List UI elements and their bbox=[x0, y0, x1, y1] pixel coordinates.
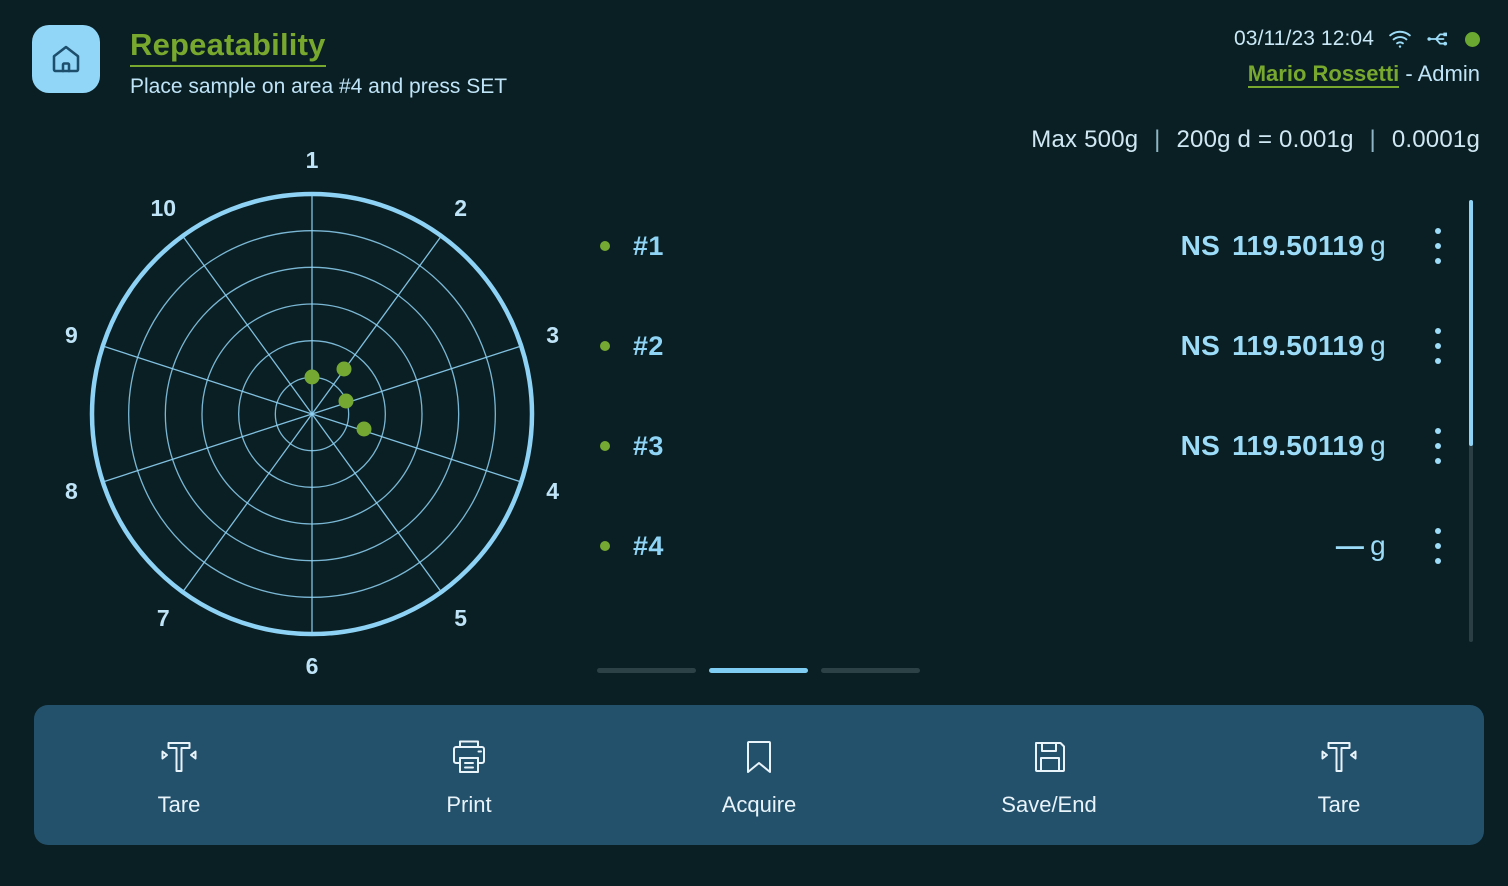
measurement-number: 119.50119 bbox=[1232, 230, 1364, 261]
toolbar-button-print[interactable]: Print bbox=[324, 705, 614, 845]
kebab-dot bbox=[1435, 443, 1441, 449]
header-bar: Repeatability Place sample on area #4 an… bbox=[0, 0, 1508, 118]
measurement-number: — bbox=[1336, 530, 1364, 561]
status-row: 03/11/23 12:04 bbox=[1234, 24, 1480, 54]
tare-icon bbox=[154, 734, 204, 780]
kebab-dot bbox=[1435, 343, 1441, 349]
measurement-unit: g bbox=[1370, 230, 1386, 261]
measurement-row[interactable]: #1NS119.50119g bbox=[600, 196, 1450, 296]
polar-repeatability-chart: 12345678910 bbox=[40, 148, 585, 683]
printer-icon bbox=[444, 734, 494, 780]
measurement-id-label: #3 bbox=[633, 431, 664, 462]
measurement-list: #1NS119.50119g#2NS119.50119g#3NS119.5011… bbox=[600, 196, 1450, 616]
measurement-row[interactable]: #4—g bbox=[600, 496, 1450, 596]
toolbar-button-label: Tare bbox=[1318, 793, 1361, 817]
measurement-value: NS119.50119g bbox=[1181, 330, 1386, 362]
page-indicator-bar[interactable] bbox=[821, 668, 920, 673]
capacity-range: 200g d = 0.001g bbox=[1176, 126, 1353, 153]
polar-sector-label-2: 2 bbox=[448, 197, 474, 220]
measurement-unit: g bbox=[1370, 430, 1386, 461]
wifi-icon bbox=[1388, 29, 1412, 49]
toolbar-button-tare[interactable]: Tare bbox=[34, 705, 324, 845]
measurement-prefix: NS bbox=[1181, 430, 1221, 461]
toolbar-button-save-end[interactable]: Save/End bbox=[904, 705, 1194, 845]
measurement-row[interactable]: #2NS119.50119g bbox=[600, 296, 1450, 396]
measurement-value: NS119.50119g bbox=[1181, 230, 1386, 262]
toolbar-button-label: Save/End bbox=[1001, 793, 1096, 817]
polar-sector-label-8: 8 bbox=[58, 480, 84, 503]
polar-sector-line bbox=[103, 346, 312, 414]
polar-sector-label-5: 5 bbox=[448, 607, 474, 630]
measurement-value: —g bbox=[1324, 530, 1386, 562]
kebab-dot bbox=[1435, 458, 1441, 464]
measurement-prefix: NS bbox=[1181, 230, 1221, 261]
row-overflow-menu-icon[interactable] bbox=[1426, 526, 1450, 566]
measurement-number: 119.50119 bbox=[1232, 430, 1364, 461]
capacity-separator-2: | bbox=[1361, 126, 1385, 153]
balance-app-screen: Repeatability Place sample on area #4 an… bbox=[0, 0, 1508, 886]
capacity-info: Max 500g | 200g d = 0.001g | 0.0001g bbox=[1031, 126, 1480, 154]
measurement-unit: g bbox=[1370, 330, 1386, 361]
user-info[interactable]: Mario Rossetti - Admin bbox=[1234, 60, 1480, 88]
page-title: Repeatability bbox=[130, 26, 326, 67]
floppy-disk-icon bbox=[1024, 734, 1074, 780]
row-overflow-menu-icon[interactable] bbox=[1426, 426, 1450, 466]
bookmark-icon bbox=[734, 734, 784, 780]
toolbar-button-tare[interactable]: Tare bbox=[1194, 705, 1484, 845]
usb-icon bbox=[1426, 29, 1451, 49]
kebab-dot bbox=[1435, 528, 1441, 534]
polar-sector-label-3: 3 bbox=[540, 324, 566, 347]
measurement-id-label: #4 bbox=[633, 531, 664, 562]
measurement-status-dot bbox=[600, 541, 610, 551]
measurement-unit: g bbox=[1370, 530, 1386, 561]
measurement-id-label: #2 bbox=[633, 331, 664, 362]
measurement-status-dot bbox=[600, 341, 610, 351]
user-role: - Admin bbox=[1399, 61, 1480, 86]
toolbar-button-label: Print bbox=[446, 793, 491, 817]
polar-sector-label-7: 7 bbox=[150, 607, 176, 630]
row-overflow-menu-icon[interactable] bbox=[1426, 226, 1450, 266]
capacity-readability: 0.0001g bbox=[1392, 126, 1480, 153]
toolbar-button-label: Acquire bbox=[722, 793, 797, 817]
kebab-dot bbox=[1435, 543, 1441, 549]
toolbar-button-label: Tare bbox=[158, 793, 201, 817]
kebab-dot bbox=[1435, 558, 1441, 564]
polar-chart-svg bbox=[40, 148, 585, 683]
polar-sector-label-10: 10 bbox=[150, 197, 176, 220]
connection-status-dot bbox=[1465, 32, 1480, 47]
list-scrollbar-thumb[interactable] bbox=[1469, 200, 1473, 446]
measurement-row[interactable]: #3NS119.50119g bbox=[600, 396, 1450, 496]
measurement-value: NS119.50119g bbox=[1181, 430, 1386, 462]
polar-data-point bbox=[305, 370, 320, 385]
polar-sector-label-9: 9 bbox=[58, 324, 84, 347]
measurement-status-dot bbox=[600, 441, 610, 451]
polar-data-point bbox=[357, 422, 372, 437]
polar-sector-line bbox=[312, 414, 441, 592]
polar-sector-line bbox=[312, 236, 441, 414]
tare-icon bbox=[1314, 734, 1364, 780]
capacity-max: Max 500g bbox=[1031, 126, 1138, 153]
measurement-status-dot bbox=[600, 241, 610, 251]
title-block: Repeatability Place sample on area #4 an… bbox=[130, 26, 507, 100]
kebab-dot bbox=[1435, 258, 1441, 264]
measurement-id-label: #1 bbox=[633, 231, 664, 262]
page-subtitle: Place sample on area #4 and press SET bbox=[130, 74, 507, 100]
polar-sector-label-6: 6 bbox=[299, 655, 325, 678]
polar-data-point bbox=[337, 362, 352, 377]
home-button[interactable] bbox=[32, 25, 100, 93]
page-indicator-bar[interactable] bbox=[597, 668, 696, 673]
page-indicator-bar[interactable] bbox=[709, 668, 808, 673]
datetime-display: 03/11/23 12:04 bbox=[1234, 27, 1374, 51]
kebab-dot bbox=[1435, 228, 1441, 234]
capacity-separator-1: | bbox=[1145, 126, 1169, 153]
user-name: Mario Rossetti bbox=[1248, 61, 1400, 88]
measurement-prefix: NS bbox=[1181, 330, 1221, 361]
kebab-dot bbox=[1435, 243, 1441, 249]
polar-sector-label-4: 4 bbox=[540, 480, 566, 503]
home-icon bbox=[48, 41, 84, 77]
kebab-dot bbox=[1435, 428, 1441, 434]
polar-sector-label-1: 1 bbox=[299, 149, 325, 172]
kebab-dot bbox=[1435, 358, 1441, 364]
polar-data-point bbox=[339, 394, 354, 409]
toolbar-button-acquire[interactable]: Acquire bbox=[614, 705, 904, 845]
page-indicator bbox=[597, 668, 920, 673]
polar-sector-line bbox=[183, 236, 312, 414]
header-status-area: 03/11/23 12:04 bbox=[1234, 24, 1480, 88]
bottom-toolbar: TarePrintAcquireSave/EndTare bbox=[34, 705, 1484, 845]
kebab-dot bbox=[1435, 328, 1441, 334]
polar-sector-line bbox=[312, 414, 521, 482]
polar-sector-line bbox=[183, 414, 312, 592]
list-scrollbar-track[interactable] bbox=[1469, 200, 1473, 642]
measurement-number: 119.50119 bbox=[1232, 330, 1364, 361]
polar-sector-line bbox=[103, 414, 312, 482]
row-overflow-menu-icon[interactable] bbox=[1426, 326, 1450, 366]
